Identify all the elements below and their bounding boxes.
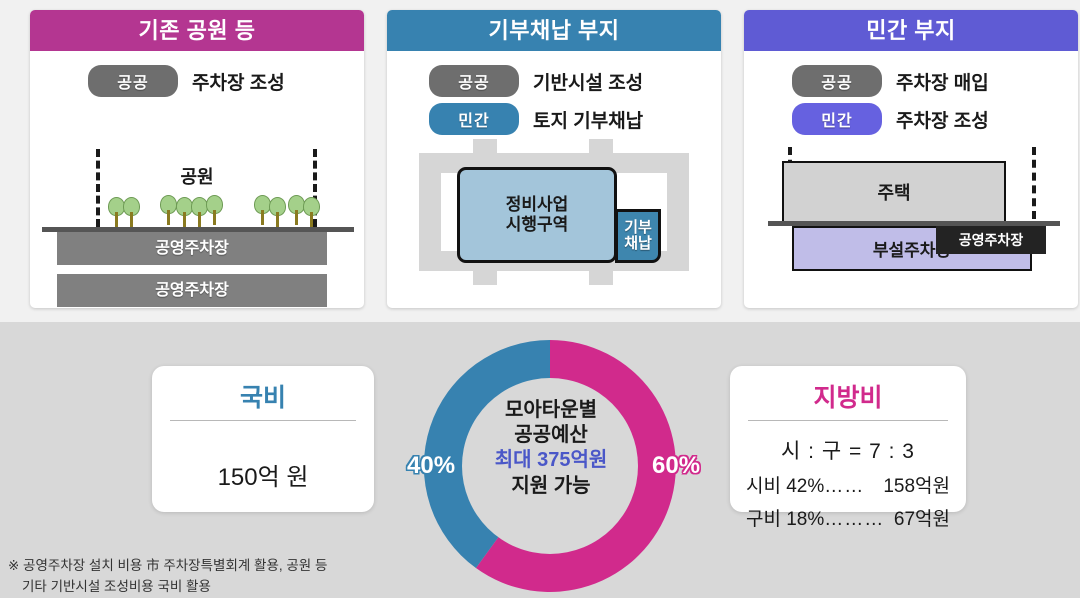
public-parking-bar-1: 공영주차장 xyxy=(57,232,327,265)
panel-donated-land: 기부채납 부지 공공 기반시설 조성 민간 토지 기부채납 xyxy=(387,10,721,308)
redevelopment-zone: 정비사업 시행구역 xyxy=(457,167,617,263)
zone-line-2: 시행구역 xyxy=(506,215,569,235)
boundary-line-right-icon xyxy=(1032,147,1036,219)
tree-icon xyxy=(160,195,177,225)
panel3-row-public: 공공 주차장 매입 xyxy=(744,65,1078,97)
pill-public: 공공 xyxy=(429,65,519,97)
panel-private-land-title: 민간 부지 xyxy=(744,10,1078,51)
donut-center-line-1: 모아타운별 xyxy=(470,398,632,423)
panel2-row-public-label: 기반시설 조성 xyxy=(533,68,643,95)
house-block: 주택 xyxy=(782,161,1006,223)
card-local-row-district-value: 67억원 xyxy=(894,504,950,531)
donut-label-40: 40% xyxy=(407,452,455,480)
donated-line-2: 채납 xyxy=(624,236,652,253)
panel1-badge-rows: 공공 주차장 조성 xyxy=(30,65,364,103)
panel2-row-public: 공공 기반시설 조성 xyxy=(387,65,721,97)
donut-center-line-2: 공공예산 xyxy=(470,423,632,448)
scheme-panels-section: 기존 공원 등 공공 주차장 조성 공원 xyxy=(0,0,1080,322)
divider xyxy=(170,420,356,421)
card-national-title: 국비 xyxy=(152,366,374,420)
panel-donated-land-title: 기부채납 부지 xyxy=(387,10,721,51)
public-parking-block: 공영주차장 xyxy=(936,226,1046,254)
panel1-row-public-label: 주차장 조성 xyxy=(192,68,285,95)
tree-icon xyxy=(123,197,140,227)
panel3-row-public-label: 주차장 매입 xyxy=(896,68,989,95)
pill-private: 민간 xyxy=(792,103,882,135)
panel-existing-park: 기존 공원 등 공공 주차장 조성 공원 xyxy=(30,10,364,308)
pill-public: 공공 xyxy=(792,65,882,97)
card-local-title: 지방비 xyxy=(730,366,966,420)
footnote-line-2: 기타 기반시설 조성비용 국비 활용 xyxy=(8,577,428,598)
panel3-row-private-label: 주차장 조성 xyxy=(896,106,989,133)
card-local-row-district: 구비 18%……… 67억원 xyxy=(730,504,966,531)
tree-icon xyxy=(206,195,223,225)
divider xyxy=(748,420,948,421)
block-map-shape: 정비사업 시행구역 기부 채납 xyxy=(419,139,689,285)
donut-center-line-4: 지원 가능 xyxy=(470,474,632,499)
donut-center-line-3: 최대 375억원 xyxy=(470,448,632,473)
panel2-badge-rows: 공공 기반시설 조성 민간 토지 기부채납 xyxy=(387,65,721,141)
panel2-diagram: 정비사업 시행구역 기부 채납 xyxy=(387,135,721,308)
panel2-row-private: 민간 토지 기부채납 xyxy=(387,103,721,135)
panel-existing-park-body: 공공 주차장 조성 공원 xyxy=(30,51,364,308)
panel3-badge-rows: 공공 주차장 매입 민간 주차장 조성 xyxy=(744,65,1078,141)
panel-private-land: 민간 부지 공공 주차장 매입 민간 주차장 조성 주택 xyxy=(744,10,1078,308)
panel-existing-park-title: 기존 공원 등 xyxy=(30,10,364,51)
panel3-row-private: 민간 주차장 조성 xyxy=(744,103,1078,135)
panel1-row-public: 공공 주차장 조성 xyxy=(30,65,364,97)
pill-private: 민간 xyxy=(429,103,519,135)
footnote-line-1: ※ 공영주차장 설치 비용 市 주차장특별회계 활용, 공원 등 xyxy=(8,556,428,577)
donated-parcel: 기부 채납 xyxy=(615,209,661,263)
card-national-budget: 국비 150억 원 xyxy=(152,366,374,512)
dot-leader: …… xyxy=(824,476,864,497)
donated-line-1: 기부 xyxy=(624,220,652,237)
dot-leader: ……… xyxy=(824,509,884,530)
card-national-amount: 150억 원 xyxy=(152,457,374,492)
zone-line-1: 정비사업 xyxy=(506,195,569,215)
card-local-ratio: 시 : 구 = 7 : 3 xyxy=(730,435,966,465)
card-local-row-district-label: 구비 18%……… xyxy=(746,504,884,531)
panel3-diagram: 주택 부설주차장 공영주차장 xyxy=(744,143,1078,308)
donut-center-text: 모아타운별 공공예산 최대 375억원 지원 가능 xyxy=(470,398,632,499)
pill-public: 공공 xyxy=(88,65,178,97)
card-local-budget: 지방비 시 : 구 = 7 : 3 시비 42%…… 158억원 구비 18%…… xyxy=(730,366,966,512)
panel-private-land-body: 공공 주차장 매입 민간 주차장 조성 주택 부설주차장 공영주차장 xyxy=(744,51,1078,308)
panel2-row-private-label: 토지 기부채납 xyxy=(533,106,643,133)
tree-icon xyxy=(269,197,286,227)
card-local-row-city: 시비 42%…… 158억원 xyxy=(730,471,966,498)
footnote: ※ 공영주차장 설치 비용 市 주차장특별회계 활용, 공원 등 기타 기반시설… xyxy=(8,556,428,598)
boundary-line-left-icon xyxy=(96,149,100,227)
donut-label-60: 60% xyxy=(652,452,700,480)
public-parking-bar-2: 공영주차장 xyxy=(57,274,327,307)
tree-icon xyxy=(303,197,320,227)
panel-donated-land-body: 공공 기반시설 조성 민간 토지 기부채납 xyxy=(387,51,721,308)
panel1-diagram: 공원 xyxy=(30,143,364,308)
card-local-row-city-label: 시비 42%…… xyxy=(746,471,864,498)
card-local-row-city-value: 158억원 xyxy=(883,471,950,498)
